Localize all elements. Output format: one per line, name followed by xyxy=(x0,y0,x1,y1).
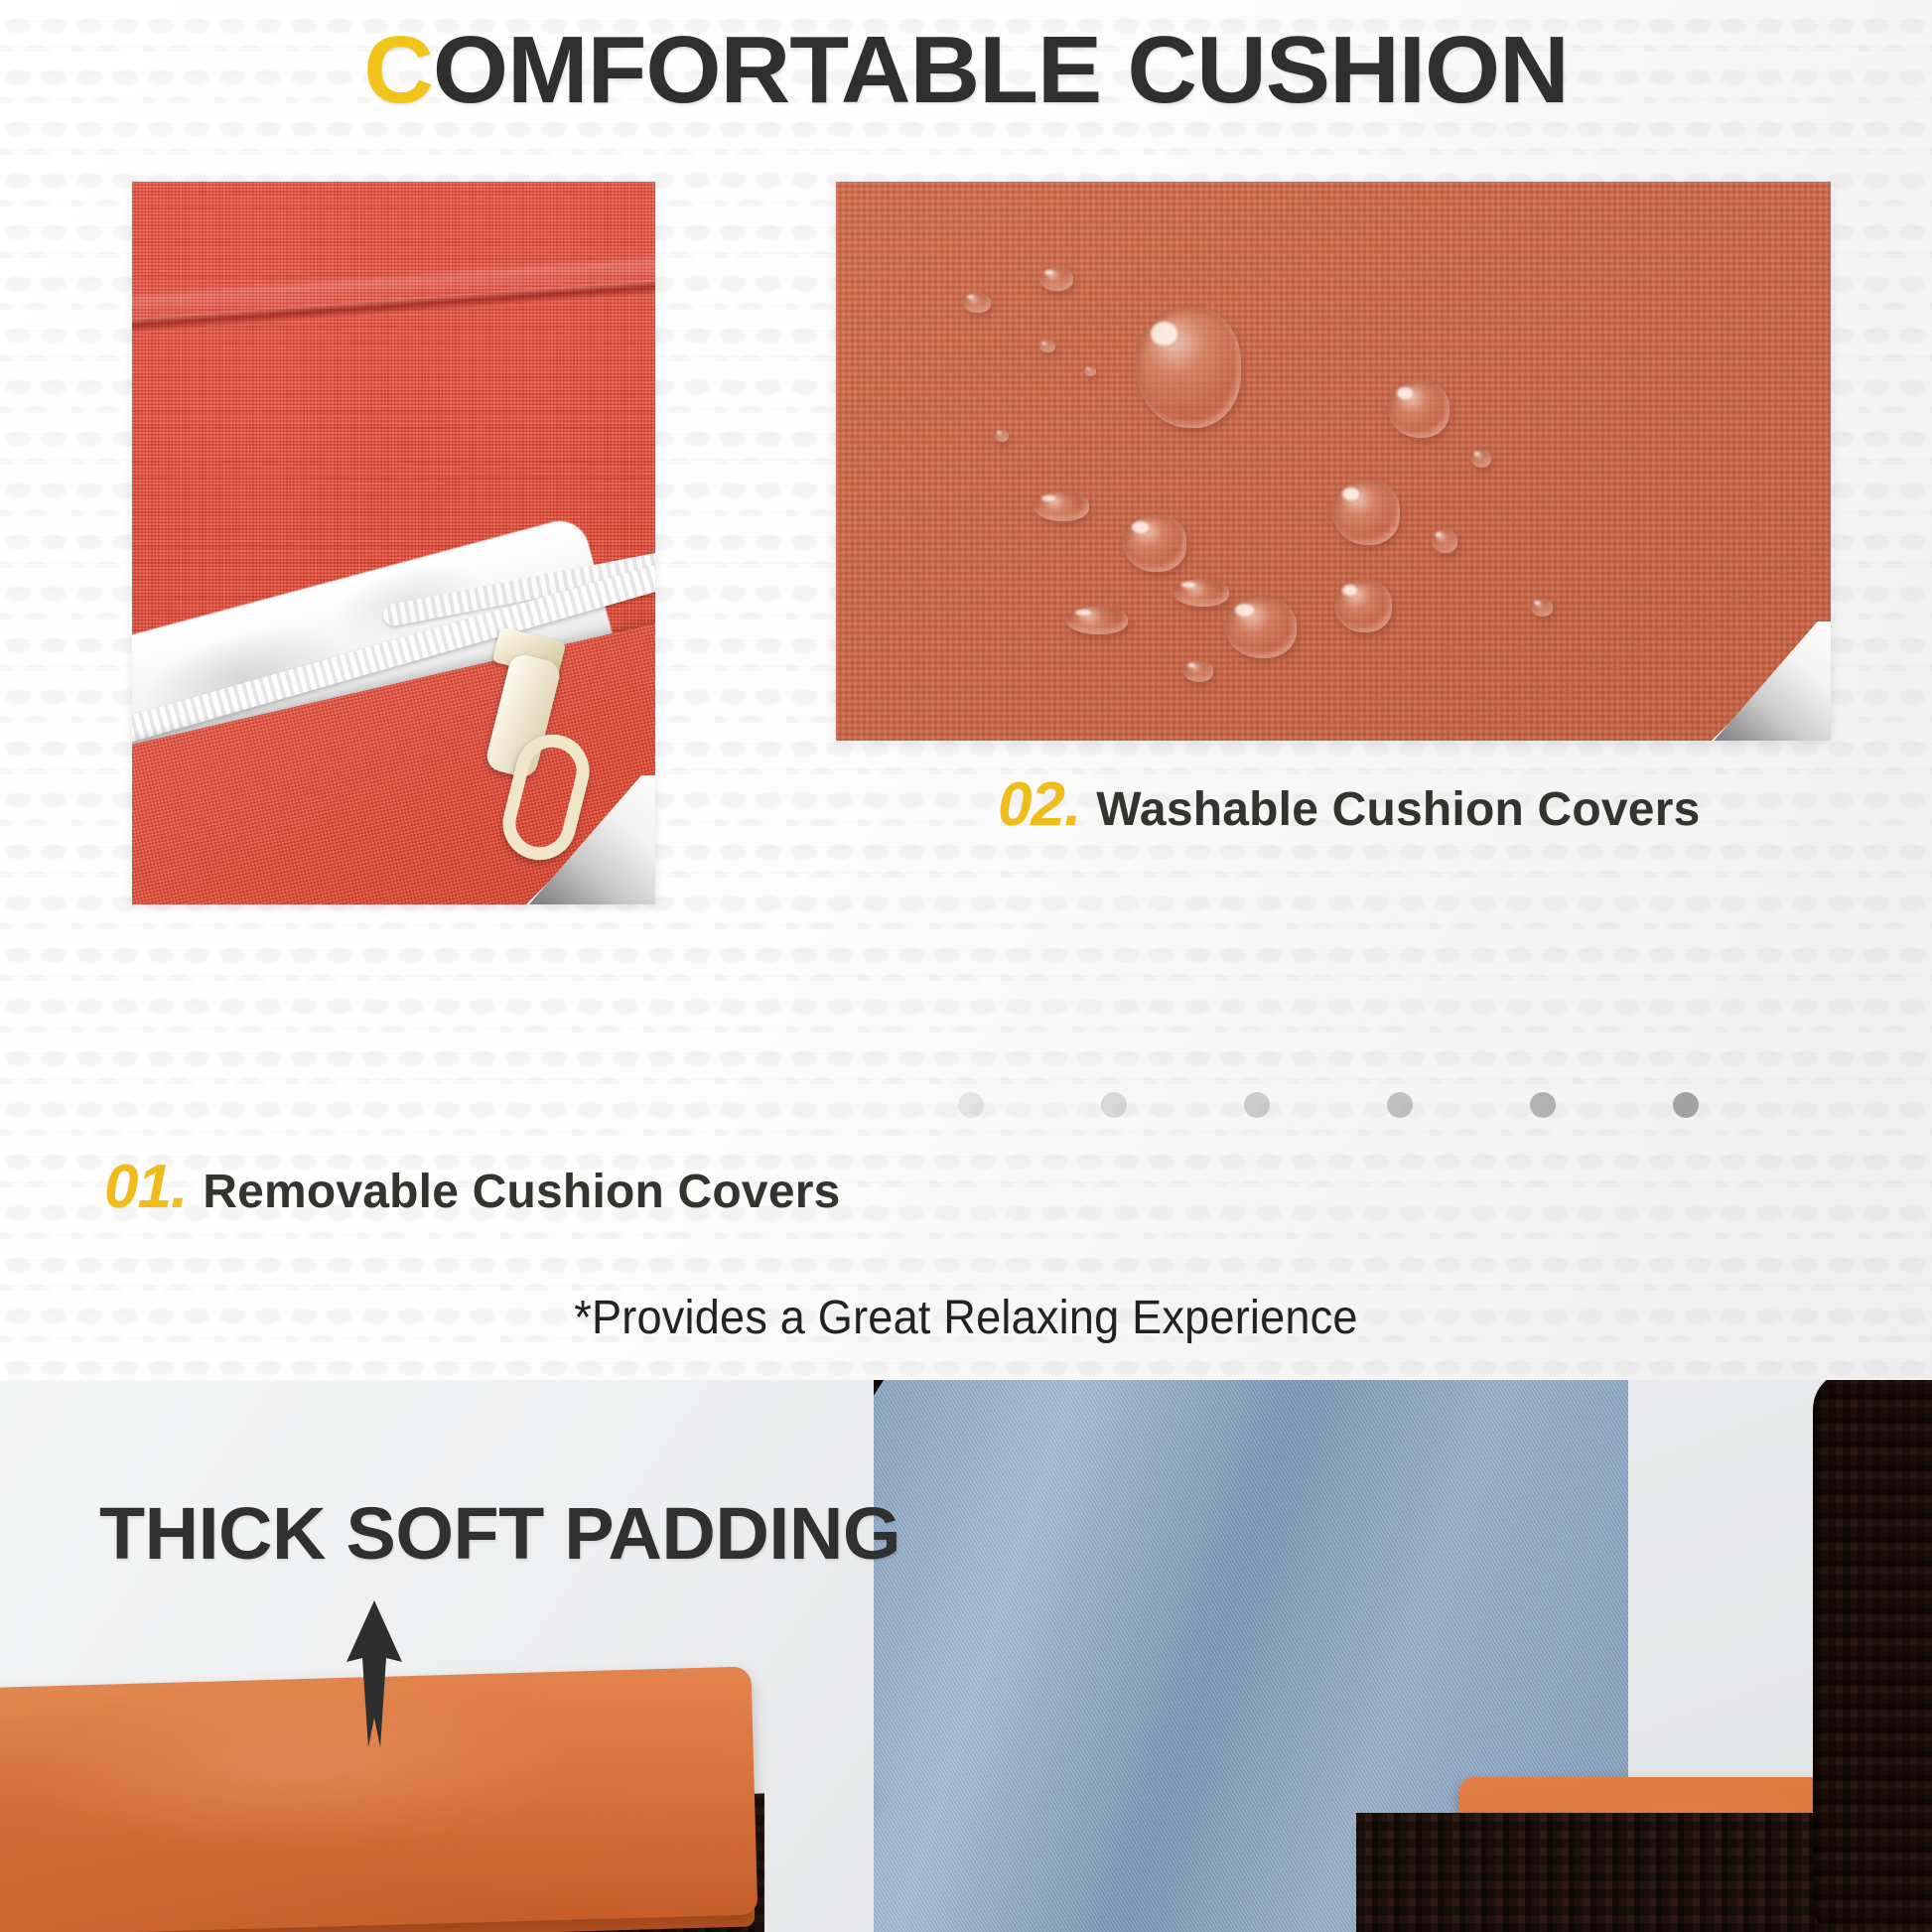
title-rest: OMFORTABLE CUSHION xyxy=(433,17,1569,123)
feature-label-02: Washable Cushion Covers xyxy=(1096,782,1700,837)
feature-image-washable-covers xyxy=(836,182,1831,741)
progress-dot[interactable] xyxy=(958,1092,984,1118)
water-droplet xyxy=(1388,380,1449,438)
wicker-chair-base xyxy=(1356,1813,1872,1932)
progress-dots xyxy=(958,1092,1699,1118)
progress-dot[interactable] xyxy=(1387,1092,1413,1118)
water-droplet xyxy=(1173,579,1229,607)
page-curl-corner xyxy=(1712,621,1831,741)
water-droplet xyxy=(1136,307,1241,428)
water-droplet xyxy=(1183,660,1213,682)
water-droplet xyxy=(1034,491,1089,521)
water-droplet xyxy=(1332,480,1400,545)
infographic-canvas: COMFORTABLE CUSHION 02. Washable Cushion… xyxy=(0,0,1932,1932)
water-droplet xyxy=(1531,599,1553,617)
progress-dot[interactable] xyxy=(1530,1092,1556,1118)
feature-number-02: 02. xyxy=(998,769,1080,840)
page-title: COMFORTABLE CUSHION xyxy=(0,18,1932,123)
title-highlight-letter: C xyxy=(363,17,433,123)
water-droplet xyxy=(1471,450,1491,468)
water-droplet xyxy=(1039,267,1073,291)
footnote-text: *Provides a Great Relaxing Experience xyxy=(58,1291,1873,1345)
progress-dot[interactable] xyxy=(1244,1092,1270,1118)
feature-label-01: Removable Cushion Covers xyxy=(203,1165,840,1219)
feature-caption-02: 02. Washable Cushion Covers xyxy=(998,769,1700,840)
water-droplet xyxy=(1066,607,1128,634)
water-droplet xyxy=(995,430,1009,442)
bottom-lifestyle-photo xyxy=(0,1380,1932,1932)
water-droplet xyxy=(1225,597,1297,658)
terracotta-fabric-weave xyxy=(836,182,1831,741)
water-droplet xyxy=(1334,579,1392,632)
water-droplet xyxy=(963,293,991,313)
feature-number-01: 01. xyxy=(104,1152,187,1222)
page-curl-corner xyxy=(526,775,655,904)
up-arrow-icon xyxy=(346,1600,402,1747)
progress-dot[interactable] xyxy=(1101,1092,1127,1118)
progress-dot[interactable] xyxy=(1673,1092,1699,1118)
water-droplet xyxy=(1039,341,1055,352)
water-droplet xyxy=(1432,529,1457,553)
feature-image-removable-covers xyxy=(132,182,655,904)
water-droplet xyxy=(1084,366,1096,376)
wicker-chair-arm xyxy=(1813,1380,1932,1932)
thick-soft-padding-callout: THICK SOFT PADDING xyxy=(99,1491,900,1576)
water-droplet xyxy=(1123,514,1186,572)
feature-caption-01: 01. Removable Cushion Covers xyxy=(104,1152,841,1222)
